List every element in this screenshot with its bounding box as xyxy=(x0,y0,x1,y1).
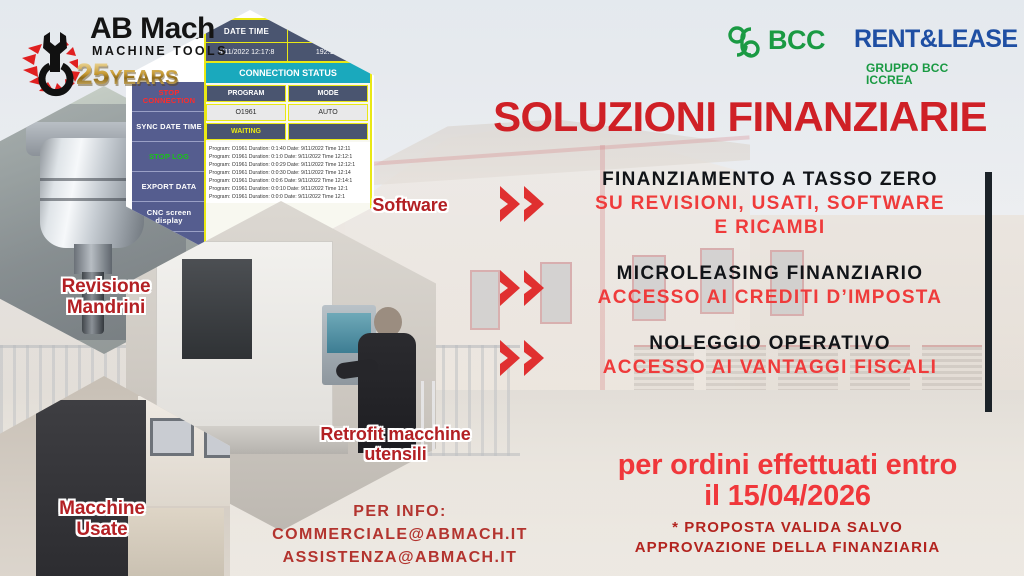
cnc-log-line: Program: O1961 Duration: 0:1:40 Date: 9/… xyxy=(209,145,368,153)
spindle-neck xyxy=(74,244,112,274)
offer-subtitle-line1: ACCESSO AI CREDITI D’IMPOSTA xyxy=(550,286,990,310)
offer-text: FINANZIAMENTO A TASSO ZERO SU REVISIONI,… xyxy=(550,168,990,240)
caption-software: Software xyxy=(330,195,490,215)
caption-line-2: Mandrini xyxy=(6,297,206,318)
abmach-anniversary: 25YEARS xyxy=(76,60,178,90)
bcc-partner-logos: BCC RENT&LEASE GRUPPO BCC ICCREA xyxy=(726,22,994,82)
deadline-text: per ordini effettuati entro il 15/04/202… xyxy=(560,450,1015,511)
cnc-log-line: Program: O1961 Duration: 0:0:6 Date: 9/1… xyxy=(209,177,368,185)
caption-line-1: Macchine xyxy=(2,498,202,519)
double-chevron-right-icon xyxy=(498,268,556,308)
offers-list: FINANZIAMENTO A TASSO ZERO SU REVISIONI,… xyxy=(498,168,998,402)
contact-email-assistenza[interactable]: ASSISTENZA@ABMACH.IT xyxy=(240,546,560,569)
offer-title: NOLEGGIO OPERATIVO xyxy=(550,332,990,356)
page-title: SOLUZIONI FINANZIARIE xyxy=(462,96,1018,138)
deadline-line-1: per ordini effettuati entro xyxy=(560,450,1015,481)
caption-line-2: utensili xyxy=(288,444,503,464)
offer-title: FINANZIAMENTO A TASSO ZERO xyxy=(550,168,990,192)
offer-text: NOLEGGIO OPERATIVO ACCESSO AI VANTAGGI F… xyxy=(550,332,990,380)
offer-subtitle-line1: ACCESSO AI VANTAGGI FISCALI xyxy=(550,356,990,380)
disclaimer-text: * PROPOSTA VALIDA SALVO APPROVAZIONE DEL… xyxy=(560,518,1015,558)
cnc-grid-status-value: WAITING xyxy=(206,123,286,140)
double-chevron-right-icon xyxy=(498,184,556,224)
abmach-tagline: MACHINE TOOLS xyxy=(92,45,228,58)
caption-macchine-usate: Macchine Usate xyxy=(2,498,202,541)
offer-subtitle-line2: E RICAMBI xyxy=(550,216,990,240)
bcc-wordmark: BCC xyxy=(768,27,825,54)
cnc-grid-status-empty xyxy=(288,123,368,140)
cnc-log-line: Program: O1961 Duration: 0:0:30 Date: 9/… xyxy=(209,169,368,177)
cnc-grid-mode-header: MODE xyxy=(288,85,368,102)
cnc-log-line: Program: O1961 Duration: 0:1:0 Date: 9/1… xyxy=(209,153,368,161)
caption-line-1: Retrofit macchine xyxy=(288,424,503,444)
cnc-grid-value-row: O1961 AUTO xyxy=(206,104,370,121)
offer-subtitle-line1: SU REVISIONI, USATI, SOFTWARE xyxy=(550,192,990,216)
cnc-button-export-data[interactable]: EXPORT DATA xyxy=(132,172,206,202)
abmach-logo: AB Mach MACHINE TOOLS 25YEARS xyxy=(14,8,244,104)
anniversary-number: 25 xyxy=(76,58,109,91)
rent-lease-wordmark: RENT&LEASE xyxy=(854,27,1017,52)
disclaimer-line-2: APPROVAZIONE DELLA FINANZIARIA xyxy=(560,538,1015,558)
offer-item: FINANZIAMENTO A TASSO ZERO SU REVISIONI,… xyxy=(498,168,998,240)
offer-item: NOLEGGIO OPERATIVO ACCESSO AI VANTAGGI F… xyxy=(498,332,998,380)
anniversary-word: YEARS xyxy=(109,67,178,89)
caption-retrofit-macchine-utensili: Retrofit macchine utensili xyxy=(288,424,503,464)
cnc-grid-mode-value: AUTO xyxy=(288,104,368,121)
contact-email-commerciale[interactable]: COMMERCIALE@ABMACH.IT xyxy=(240,523,560,546)
promo-poster: AB Mach MACHINE TOOLS STOP CONNECTION SY… xyxy=(0,0,1024,576)
cnc-grid-program-value: O1961 xyxy=(206,104,286,121)
abmach-wordmark: AB Mach xyxy=(90,14,215,44)
offer-text: MICROLEASING FINANZIARIO ACCESSO AI CRED… xyxy=(550,262,990,310)
contact-label: PER INFO: xyxy=(240,500,560,523)
bcc-knot-icon xyxy=(726,24,762,60)
contact-info: PER INFO: COMMERCIALE@ABMACH.IT ASSISTEN… xyxy=(240,500,560,570)
offer-item: MICROLEASING FINANZIARIO ACCESSO AI CRED… xyxy=(498,262,998,310)
caption-revisione-mandrini: Revisione Mandrini xyxy=(6,276,206,319)
cnc-grid-status-row: WAITING xyxy=(206,123,370,140)
disclaimer-line-1: * PROPOSTA VALIDA SALVO xyxy=(560,518,1015,538)
offer-title: MICROLEASING FINANZIARIO xyxy=(550,262,990,286)
workshop-window xyxy=(150,418,194,456)
bcc-group-label: GRUPPO BCC ICCREA xyxy=(866,62,994,86)
double-chevron-right-icon xyxy=(498,338,556,378)
cnc-button-sync-date-time[interactable]: SYNC DATE TIME xyxy=(132,112,206,142)
caption-line-1: Revisione xyxy=(6,276,206,297)
cnc-log-line: Program: O1961 Duration: 0:0:10 Date: 9/… xyxy=(209,185,368,193)
cnc-log-line: Program: O1961 Duration: 0:0:29 Date: 9/… xyxy=(209,161,368,169)
deadline-line-2: il 15/04/2026 xyxy=(560,481,1015,512)
caption-line-2: Usate xyxy=(2,519,202,540)
cnc-button-stop-log[interactable]: STOP LOG xyxy=(132,142,206,172)
